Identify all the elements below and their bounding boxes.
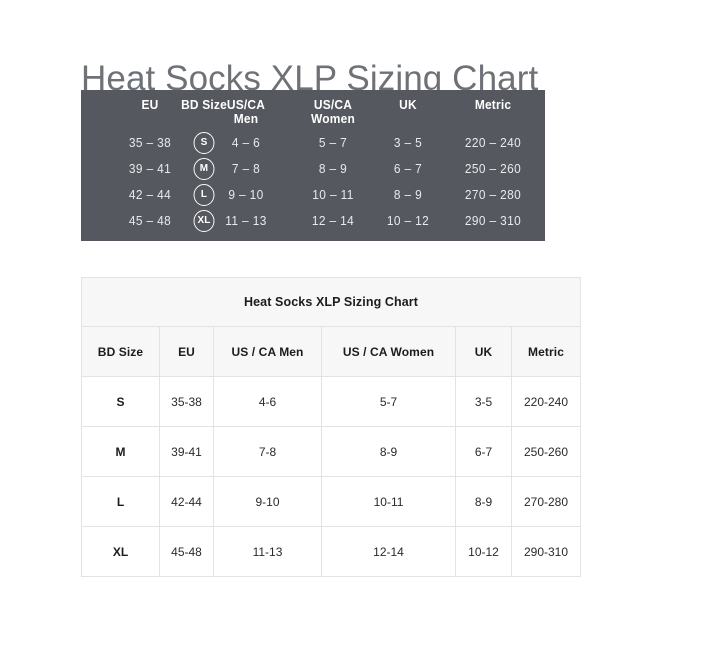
sizing-table: Heat Socks XLP Sizing Chart BD Size EU U… (81, 277, 581, 577)
cell-size: S (82, 377, 160, 427)
graphic-cell-women-l: 10 – 11 (286, 188, 379, 202)
graphic-column-eu: EU 35 – 38 39 – 41 42 – 44 45 – 48 (115, 90, 185, 241)
cell-eu: 42-44 (160, 477, 214, 527)
graphic-cell-men-s: 4 – 6 (203, 136, 289, 150)
table-header-row: BD Size EU US / CA Men US / CA Women UK … (82, 327, 581, 377)
graphic-cell-eu-s: 35 – 38 (117, 136, 184, 150)
graphic-column-us-ca-men: US/CA Men 4 – 6 7 – 8 9 – 10 11 – 13 (201, 90, 291, 241)
sizing-chart-graphic: BD Size S M L XL EU 35 – 38 39 – 41 42 –… (81, 90, 545, 241)
column-header-bd-size: BD Size (82, 327, 160, 377)
graphic-cell-eu-l: 42 – 44 (117, 188, 184, 202)
graphic-cell-uk-l: 8 – 9 (371, 188, 445, 202)
graphic-cell-metric-m: 250 – 260 (446, 162, 541, 176)
graphic-cell-women-s: 5 – 7 (286, 136, 379, 150)
graphic-cell-uk-xl: 10 – 12 (371, 214, 445, 228)
graphic-cell-uk-m: 6 – 7 (371, 162, 445, 176)
graphic-column-us-ca-women: US/CA Women 5 – 7 8 – 9 10 – 11 12 – 14 (284, 90, 382, 241)
column-header-eu: EU (160, 327, 214, 377)
graphic-header-uk: UK (372, 98, 444, 112)
graphic-header-metric: Metric (447, 98, 539, 112)
graphic-cell-eu-m: 39 – 41 (117, 162, 184, 176)
cell-uk: 6-7 (456, 427, 512, 477)
cell-metric: 270-280 (512, 477, 581, 527)
column-header-uk: UK (456, 327, 512, 377)
cell-eu: 35-38 (160, 377, 214, 427)
cell-men: 9-10 (214, 477, 322, 527)
cell-women: 10-11 (322, 477, 456, 527)
cell-men: 11-13 (214, 527, 322, 577)
column-header-us-ca-women: US / CA Women (322, 327, 456, 377)
graphic-column-metric: Metric 220 – 240 250 – 260 270 – 280 290… (443, 90, 543, 241)
cell-metric: 220-240 (512, 377, 581, 427)
graphic-cell-metric-s: 220 – 240 (446, 136, 541, 150)
cell-eu: 39-41 (160, 427, 214, 477)
graphic-header-eu: EU (118, 98, 182, 112)
graphic-cell-women-m: 8 – 9 (286, 162, 379, 176)
column-header-us-ca-men: US / CA Men (214, 327, 322, 377)
graphic-column-uk: UK 3 – 5 6 – 7 8 – 9 10 – 12 (369, 90, 447, 241)
cell-size: L (82, 477, 160, 527)
cell-men: 7-8 (214, 427, 322, 477)
graphic-cell-metric-l: 270 – 280 (446, 188, 541, 202)
cell-metric: 250-260 (512, 427, 581, 477)
graphic-header-us-ca-women: US/CA Women (288, 98, 378, 126)
graphic-cell-men-xl: 11 – 13 (203, 214, 289, 228)
graphic-cell-eu-xl: 45 – 48 (117, 214, 184, 228)
graphic-cell-uk-s: 3 – 5 (371, 136, 445, 150)
cell-women: 5-7 (322, 377, 456, 427)
cell-uk: 10-12 (456, 527, 512, 577)
graphic-cell-women-xl: 12 – 14 (286, 214, 379, 228)
graphic-header-us-ca-men: US/CA Men (205, 98, 288, 126)
column-header-metric: Metric (512, 327, 581, 377)
cell-uk: 8-9 (456, 477, 512, 527)
cell-men: 4-6 (214, 377, 322, 427)
table-row: L 42-44 9-10 10-11 8-9 270-280 (82, 477, 581, 527)
cell-metric: 290-310 (512, 527, 581, 577)
cell-size: M (82, 427, 160, 477)
graphic-cell-metric-xl: 290 – 310 (446, 214, 541, 228)
graphic-cell-men-m: 7 – 8 (203, 162, 289, 176)
table-row: XL 45-48 11-13 12-14 10-12 290-310 (82, 527, 581, 577)
cell-women: 8-9 (322, 427, 456, 477)
table-caption: Heat Socks XLP Sizing Chart (82, 278, 581, 327)
cell-uk: 3-5 (456, 377, 512, 427)
cell-women: 12-14 (322, 527, 456, 577)
cell-size: XL (82, 527, 160, 577)
cell-eu: 45-48 (160, 527, 214, 577)
table-row: M 39-41 7-8 8-9 6-7 250-260 (82, 427, 581, 477)
graphic-cell-men-l: 9 – 10 (203, 188, 289, 202)
table-row: S 35-38 4-6 5-7 3-5 220-240 (82, 377, 581, 427)
table-caption-row: Heat Socks XLP Sizing Chart (82, 278, 581, 327)
